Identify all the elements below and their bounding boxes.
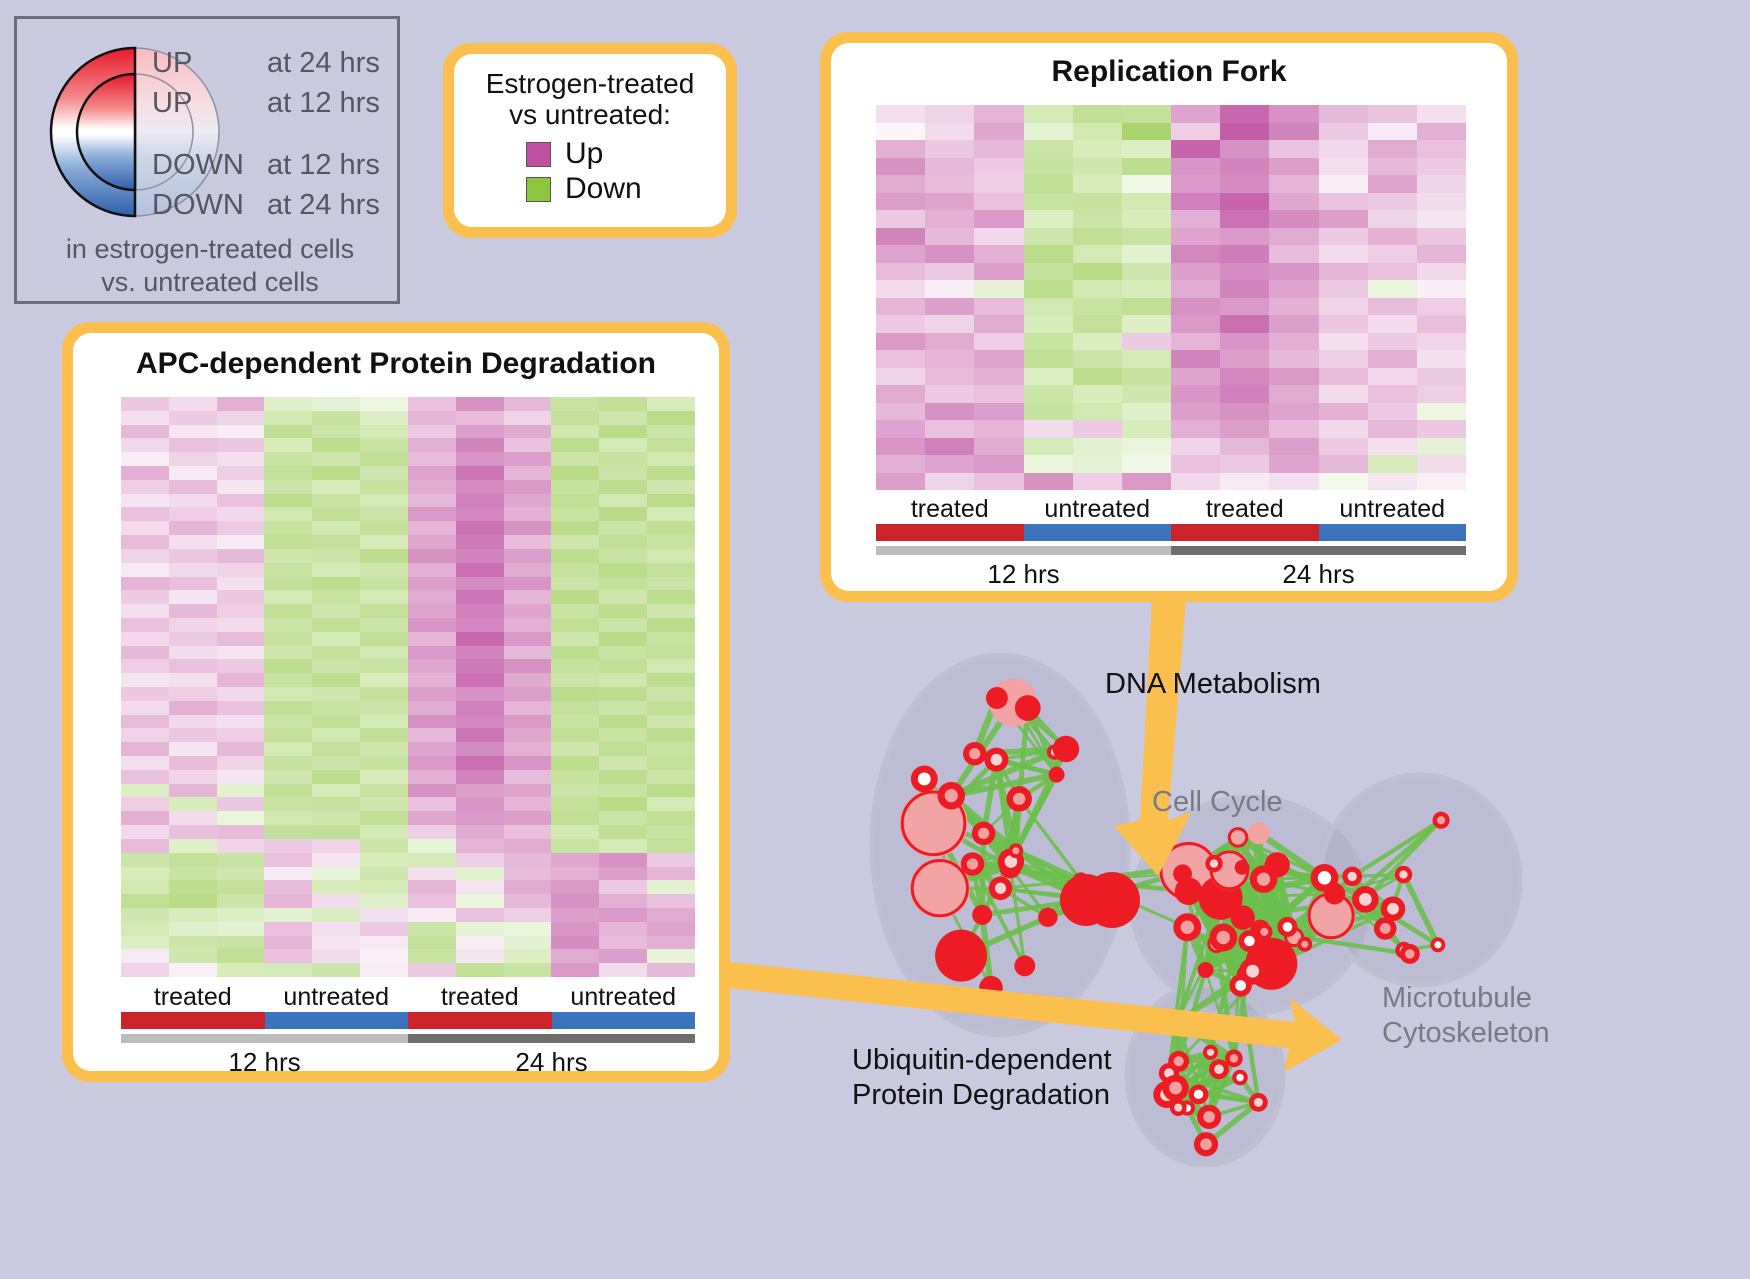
heatmap-cell — [169, 521, 217, 535]
heatmap-cell — [1368, 403, 1417, 421]
heatmap-cell — [360, 646, 408, 660]
heatmap-cell — [1171, 420, 1220, 438]
heatmap-cell — [876, 228, 925, 246]
heatmap-cell — [925, 438, 974, 456]
heatmap-cell — [974, 315, 1023, 333]
heatmap-cell — [121, 604, 169, 618]
heatmap-cell — [1319, 368, 1368, 386]
heatmap-cell — [1319, 298, 1368, 316]
heatmap-cell — [1368, 140, 1417, 158]
heatmap-cell — [456, 784, 504, 798]
heatmap-cell — [121, 590, 169, 604]
heatmap-cell — [974, 368, 1023, 386]
heatmap-cell — [1319, 210, 1368, 228]
heatmap-cell — [312, 701, 360, 715]
heatmap-cell — [504, 438, 552, 452]
heatmap-cell — [876, 385, 925, 403]
heatmap-cell — [169, 604, 217, 618]
heatmap-cell — [551, 880, 599, 894]
heatmap-cell — [408, 494, 456, 508]
heatmap-cell — [925, 333, 974, 351]
heatmap-cell — [360, 590, 408, 604]
heatmap-cell — [312, 397, 360, 411]
replication-fork-title: Replication Fork — [831, 43, 1507, 89]
heatmap-cell — [312, 867, 360, 881]
heatmap-cell — [876, 298, 925, 316]
heatmap-cell — [1122, 140, 1171, 158]
heatmap-cell — [1220, 473, 1269, 491]
heatmap-cell — [264, 922, 312, 936]
heatmap-cell — [408, 894, 456, 908]
heatmap-cell — [360, 438, 408, 452]
heatmap-cell — [169, 425, 217, 439]
heatmap-cell — [551, 811, 599, 825]
heatmap-cell — [1073, 280, 1122, 298]
heatmap-cell — [1122, 263, 1171, 281]
heatmap-cell — [551, 936, 599, 950]
heatmap-cell — [1319, 158, 1368, 176]
heatmap-cell — [1417, 368, 1466, 386]
heatmap-cell — [456, 646, 504, 660]
heatmap-cell — [169, 659, 217, 673]
heatmap-cell — [360, 466, 408, 480]
heatmap-cell — [264, 756, 312, 770]
heatmap-cell — [1319, 455, 1368, 473]
heatmap-cell — [360, 452, 408, 466]
heatmap-cell — [551, 894, 599, 908]
heatmap-cell — [1368, 350, 1417, 368]
heatmap-cell — [1319, 315, 1368, 333]
heatmap-cell — [1269, 420, 1318, 438]
heatmap-cell — [504, 922, 552, 936]
heatmap-cell — [312, 590, 360, 604]
heatmap-cell — [1024, 210, 1073, 228]
heatmap-cell — [456, 797, 504, 811]
heatmap-cell — [1024, 123, 1073, 141]
heatmap-cell — [1417, 123, 1466, 141]
heatmap-cell — [264, 563, 312, 577]
heatmap-cell — [312, 480, 360, 494]
heatmap-cell — [1122, 455, 1171, 473]
heatmap-cell — [456, 853, 504, 867]
heatmap-cell — [504, 659, 552, 673]
heatmap-cell — [1220, 210, 1269, 228]
heatmap-cell — [217, 756, 265, 770]
heatmap-cell — [312, 715, 360, 729]
legend-item-down-label: Down — [565, 172, 642, 206]
heatmap-cell — [1220, 140, 1269, 158]
heatmap-cell — [217, 701, 265, 715]
heatmap-cell — [1122, 403, 1171, 421]
heatmap-cell — [1220, 158, 1269, 176]
heatmap-cell — [408, 825, 456, 839]
heatmap-cell — [456, 867, 504, 881]
heatmap-cell — [360, 811, 408, 825]
heatmap-cell — [1171, 123, 1220, 141]
heatmap-cell — [876, 263, 925, 281]
heatmap-cell — [551, 590, 599, 604]
heatmap-cell — [504, 756, 552, 770]
apc-time-label: 24 hrs — [408, 1047, 695, 1078]
heatmap-cell — [121, 839, 169, 853]
heatmap-cell — [551, 756, 599, 770]
legend-item-up: Up — [526, 137, 726, 172]
heatmap-cell — [599, 563, 647, 577]
heatmap-cell — [408, 604, 456, 618]
key-direction-label: UP — [152, 87, 267, 120]
up-swatch-icon — [526, 142, 551, 167]
heatmap-cell — [312, 494, 360, 508]
heatmap-cell — [647, 839, 695, 853]
heatmap-cell — [599, 480, 647, 494]
key-direction-label: DOWN — [152, 149, 267, 182]
key-time-label: at 12 hrs — [267, 149, 380, 182]
heatmap-cell — [312, 632, 360, 646]
heatmap-cell — [647, 853, 695, 867]
heatmap-cell — [1171, 333, 1220, 351]
heatmap-cell — [360, 742, 408, 756]
heatmap-cell — [1368, 315, 1417, 333]
heatmap-cell — [925, 193, 974, 211]
heatmap-cell — [264, 535, 312, 549]
heatmap-cell — [599, 535, 647, 549]
heatmap-cell — [647, 880, 695, 894]
estrogen-legend-panel: Estrogen-treated vs untreated: Up Down — [443, 43, 737, 238]
heatmap-cell — [360, 949, 408, 963]
heatmap-cell — [264, 949, 312, 963]
heatmap-cell — [264, 411, 312, 425]
heatmap-cell — [925, 158, 974, 176]
heatmap-cell — [456, 894, 504, 908]
heatmap-cell — [121, 949, 169, 963]
heatmap-cell — [1024, 228, 1073, 246]
heatmap-cell — [504, 618, 552, 632]
heatmap-cell — [504, 936, 552, 950]
heatmap-cell — [312, 604, 360, 618]
heatmap-cell — [1269, 298, 1318, 316]
apc-time-colorbar — [121, 1034, 695, 1043]
heatmap-cell — [1024, 420, 1073, 438]
heatmap-cell — [1269, 385, 1318, 403]
heatmap-cell — [1024, 245, 1073, 263]
cluster-label-line: Microtubule — [1382, 981, 1550, 1016]
heatmap-cell — [647, 811, 695, 825]
heatmap-cell — [925, 368, 974, 386]
heatmap-cell — [360, 521, 408, 535]
heatmap-cell — [1024, 368, 1073, 386]
heatmap-cell — [121, 894, 169, 908]
heatmap-cell — [974, 438, 1023, 456]
heatmap-cell — [169, 728, 217, 742]
heatmap-cell — [360, 770, 408, 784]
heatmap-cell — [456, 825, 504, 839]
heatmap-cell — [1220, 403, 1269, 421]
heatmap-cell — [925, 175, 974, 193]
heatmap-cell — [504, 908, 552, 922]
heatmap-cell — [121, 797, 169, 811]
heatmap-cell — [121, 825, 169, 839]
heatmap-cell — [1171, 280, 1220, 298]
cluster-label-line: Cytoskeleton — [1382, 1016, 1550, 1051]
heatmap-cell — [647, 784, 695, 798]
heatmap-cell — [217, 425, 265, 439]
color-key-row: UP at 24 hrs — [152, 47, 402, 87]
heatmap-cell — [121, 963, 169, 977]
heatmap-cell — [360, 797, 408, 811]
heatmap-cell — [1269, 263, 1318, 281]
heatmap-cell — [1122, 228, 1171, 246]
heatmap-cell — [504, 494, 552, 508]
heatmap-cell — [599, 715, 647, 729]
heatmap-cell — [1024, 473, 1073, 491]
heatmap-cell — [169, 494, 217, 508]
heatmap-cell — [217, 797, 265, 811]
key-time-label: at 12 hrs — [267, 87, 380, 120]
rep-time-label: 12 hrs — [876, 559, 1171, 590]
heatmap-cell — [408, 784, 456, 798]
heatmap-cell — [599, 549, 647, 563]
heatmap-cell — [360, 894, 408, 908]
heatmap-cell — [1073, 403, 1122, 421]
heatmap-cell — [456, 411, 504, 425]
heatmap-cell — [1171, 210, 1220, 228]
heatmap-cell — [1368, 228, 1417, 246]
heatmap-cell — [599, 936, 647, 950]
heatmap-cell — [121, 425, 169, 439]
heatmap-cell — [1269, 333, 1318, 351]
heatmap-cell — [876, 368, 925, 386]
heatmap-cell — [974, 105, 1023, 123]
heatmap-cell — [599, 494, 647, 508]
heatmap-cell — [217, 563, 265, 577]
heatmap-cell — [1024, 315, 1073, 333]
heatmap-cell — [312, 466, 360, 480]
heatmap-cell — [121, 936, 169, 950]
legend-inner: Estrogen-treated vs untreated: Up Down — [454, 54, 726, 227]
heatmap-cell — [121, 908, 169, 922]
heatmap-cell — [876, 193, 925, 211]
heatmap-cell — [121, 880, 169, 894]
heatmap-cell — [1368, 158, 1417, 176]
heatmap-cell — [169, 797, 217, 811]
heatmap-cell — [925, 298, 974, 316]
heatmap-cell — [360, 728, 408, 742]
heatmap-cell — [1171, 140, 1220, 158]
heatmap-cell — [169, 839, 217, 853]
heatmap-cell — [360, 756, 408, 770]
heatmap-cell — [312, 894, 360, 908]
heatmap-cell — [169, 949, 217, 963]
heatmap-cell — [264, 811, 312, 825]
heatmap-cell — [312, 811, 360, 825]
heatmap-cell — [217, 770, 265, 784]
heatmap-cell — [408, 411, 456, 425]
heatmap-cell — [456, 521, 504, 535]
heatmap-cell — [551, 797, 599, 811]
heatmap-cell — [1220, 315, 1269, 333]
heatmap-cell — [1220, 333, 1269, 351]
heatmap-cell — [599, 577, 647, 591]
heatmap-cell — [1024, 105, 1073, 123]
cluster-label-ubiquitin-degradation: Ubiquitin-dependentProtein Degradation — [852, 1043, 1112, 1113]
apc-group-label: untreated — [552, 983, 696, 1012]
heatmap-cell — [456, 687, 504, 701]
heatmap-cell — [456, 618, 504, 632]
heatmap-cell — [360, 839, 408, 853]
heatmap-cell — [1319, 123, 1368, 141]
heatmap-cell — [121, 466, 169, 480]
heatmap-cell — [169, 880, 217, 894]
figure-canvas: UP at 24 hrs UP at 12 hrs DOWN at 12 hrs… — [0, 0, 1750, 1279]
heatmap-cell — [1171, 193, 1220, 211]
heatmap-cell — [456, 742, 504, 756]
heatmap-cell — [408, 480, 456, 494]
heatmap-cell — [974, 455, 1023, 473]
heatmap-cell — [217, 715, 265, 729]
heatmap-cell — [169, 438, 217, 452]
heatmap-cell — [264, 494, 312, 508]
heatmap-cell — [974, 403, 1023, 421]
heatmap-cell — [217, 867, 265, 881]
heatmap-cell — [974, 298, 1023, 316]
heatmap-cell — [647, 563, 695, 577]
heatmap-cell — [974, 158, 1023, 176]
heatmap-cell — [974, 245, 1023, 263]
heatmap-cell — [1417, 438, 1466, 456]
heatmap-cell — [217, 659, 265, 673]
heatmap-cell — [1269, 315, 1318, 333]
heatmap-cell — [121, 494, 169, 508]
heatmap-cell — [1073, 385, 1122, 403]
heatmap-cell — [360, 715, 408, 729]
heatmap-cell — [647, 577, 695, 591]
rep-time-bar-12 — [876, 546, 1171, 555]
heatmap-cell — [1220, 280, 1269, 298]
heatmap-cell — [456, 494, 504, 508]
heatmap-cell — [312, 507, 360, 521]
heatmap-cell — [121, 867, 169, 881]
heatmap-cell — [1417, 473, 1466, 491]
heatmap-cell — [169, 563, 217, 577]
heatmap-cell — [456, 563, 504, 577]
key-spacer — [152, 127, 402, 149]
heatmap-cell — [1073, 350, 1122, 368]
heatmap-cell — [1269, 123, 1318, 141]
heatmap-cell — [217, 894, 265, 908]
heatmap-cell — [599, 521, 647, 535]
heatmap-cell — [169, 411, 217, 425]
heatmap-cell — [264, 397, 312, 411]
heatmap-cell — [1417, 280, 1466, 298]
heatmap-cell — [647, 715, 695, 729]
heatmap-cell — [876, 455, 925, 473]
heatmap-cell — [551, 659, 599, 673]
heatmap-cell — [551, 728, 599, 742]
replication-fork-panel: Replication Fork treated untreated treat… — [820, 32, 1518, 602]
legend-title-line1: Estrogen-treated — [454, 68, 726, 99]
heatmap-cell — [974, 175, 1023, 193]
heatmap-cell — [551, 922, 599, 936]
heatmap-cell — [599, 770, 647, 784]
heatmap-cell — [1269, 175, 1318, 193]
heatmap-cell — [1269, 210, 1318, 228]
heatmap-cell — [408, 632, 456, 646]
heatmap-cell — [360, 411, 408, 425]
heatmap-cell — [312, 784, 360, 798]
heatmap-cell — [925, 455, 974, 473]
heatmap-cell — [551, 438, 599, 452]
heatmap-cell — [217, 784, 265, 798]
heatmap-cell — [1319, 403, 1368, 421]
heatmap-cell — [1417, 158, 1466, 176]
heatmap-cell — [504, 880, 552, 894]
heatmap-cell — [408, 728, 456, 742]
heatmap-cell — [456, 770, 504, 784]
rep-group-label: treated — [876, 495, 1024, 524]
heatmap-cell — [647, 797, 695, 811]
heatmap-cell — [551, 397, 599, 411]
heatmap-cell — [551, 715, 599, 729]
heatmap-cell — [1368, 193, 1417, 211]
heatmap-cell — [360, 687, 408, 701]
heatmap-cell — [1171, 298, 1220, 316]
rep-group-bar-treated-12 — [876, 524, 1024, 541]
heatmap-cell — [312, 438, 360, 452]
heatmap-cell — [1073, 175, 1122, 193]
heatmap-cell — [1122, 158, 1171, 176]
heatmap-cell — [551, 604, 599, 618]
heatmap-cell — [360, 480, 408, 494]
heatmap-cell — [217, 853, 265, 867]
heatmap-cell — [408, 618, 456, 632]
heatmap-cell — [1122, 368, 1171, 386]
heatmap-cell — [1171, 473, 1220, 491]
heatmap-cell — [312, 563, 360, 577]
heatmap-cell — [504, 963, 552, 977]
heatmap-cell — [504, 466, 552, 480]
heatmap-cell — [408, 687, 456, 701]
heatmap-cell — [1220, 350, 1269, 368]
heatmap-cell — [312, 728, 360, 742]
heatmap-cell — [217, 728, 265, 742]
apc-group-bar-treated-12 — [121, 1012, 265, 1029]
heatmap-cell — [360, 701, 408, 715]
heatmap-cell — [1368, 298, 1417, 316]
heatmap-cell — [1319, 175, 1368, 193]
heatmap-cell — [121, 770, 169, 784]
heatmap-cell — [647, 590, 695, 604]
heatmap-cell — [647, 604, 695, 618]
heatmap-cell — [408, 535, 456, 549]
heatmap-cell — [1319, 333, 1368, 351]
cluster-label-line: Protein Degradation — [852, 1078, 1112, 1113]
apc-degradation-panel: APC-dependent Protein Degradation treate… — [62, 322, 730, 1082]
heatmap-cell — [876, 473, 925, 491]
heatmap-cell — [1319, 263, 1368, 281]
heatmap-cell — [1417, 385, 1466, 403]
heatmap-cell — [1319, 140, 1368, 158]
heatmap-cell — [1368, 123, 1417, 141]
heatmap-cell — [1122, 210, 1171, 228]
heatmap-cell — [1171, 228, 1220, 246]
heatmap-cell — [169, 618, 217, 632]
heatmap-cell — [264, 577, 312, 591]
heatmap-cell — [647, 742, 695, 756]
heatmap-cell — [925, 350, 974, 368]
apc-group-colorbar — [121, 1012, 695, 1029]
heatmap-cell — [599, 742, 647, 756]
heatmap-cell — [1122, 438, 1171, 456]
